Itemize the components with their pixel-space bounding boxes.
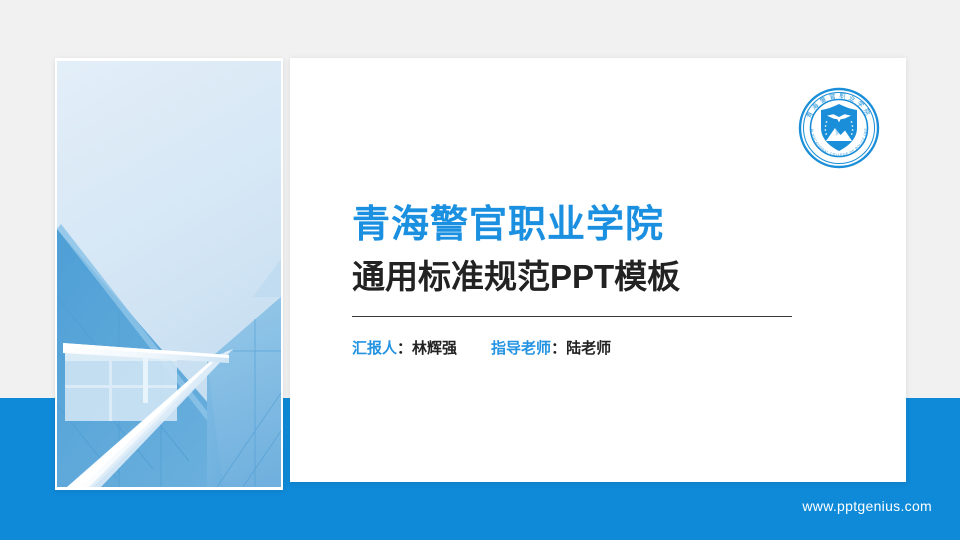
presenter-name: 林辉强 [412,340,457,357]
slide-subtitle: 通用标准规范PPT模板 [352,250,680,298]
qinghai-police-college-emblem-logo: 青海警官职业学院 QINGHAI VOCATIONAL COLLEGE OF P… [795,84,883,172]
architecture-blue-building-photo [57,61,281,487]
presentation-slide: 青海警官职业学院 QINGHAI VOCATIONAL COLLEGE OF P… [0,0,960,540]
slide-title: 青海警官职业学院 [352,193,664,248]
byline: 汇报人：林辉强指导老师：陆老师 [352,337,611,358]
title-divider [352,316,792,317]
footer-website-url: www.pptgenius.com [802,498,932,514]
photo-frame [55,58,283,490]
advisor-separator: ： [551,340,566,357]
presenter-label: 汇报人 [352,340,397,357]
presenter-separator: ： [397,340,412,357]
advisor-label: 指导老师 [491,340,551,357]
advisor-name: 陆老师 [566,340,611,357]
